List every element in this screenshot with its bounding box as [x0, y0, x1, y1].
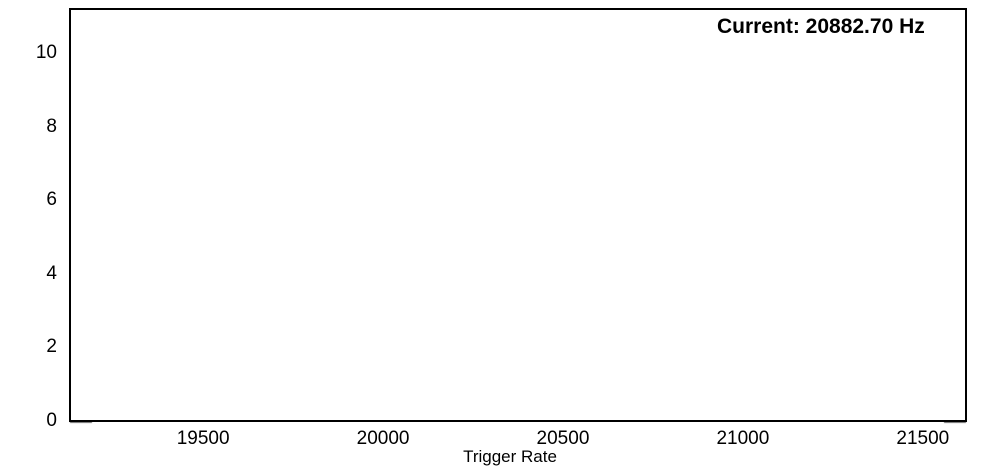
y-tick-label-4: 4 — [5, 264, 57, 283]
x-tick-label-20500: 20500 — [508, 429, 618, 448]
x-tick-label-19500: 19500 — [148, 429, 258, 448]
x-axis-title: Trigger Rate — [440, 448, 580, 465]
x-tick-label-21500: 21500 — [868, 429, 978, 448]
x-tick-label-20000: 20000 — [328, 429, 438, 448]
y-tick-label-0: 0 — [5, 411, 57, 430]
y-tick-label-6: 6 — [5, 190, 57, 209]
plot-frame — [69, 8, 967, 422]
histogram-screen: 0246810 1950020000205002100021500 Trigge… — [0, 0, 996, 472]
current-rate-annotation: Current: 20882.70 Hz — [717, 16, 925, 37]
y-tick-label-8: 8 — [5, 117, 57, 136]
y-tick-label-2: 2 — [5, 337, 57, 356]
y-tick-label-10: 10 — [5, 43, 57, 62]
x-tick-label-21000: 21000 — [688, 429, 798, 448]
